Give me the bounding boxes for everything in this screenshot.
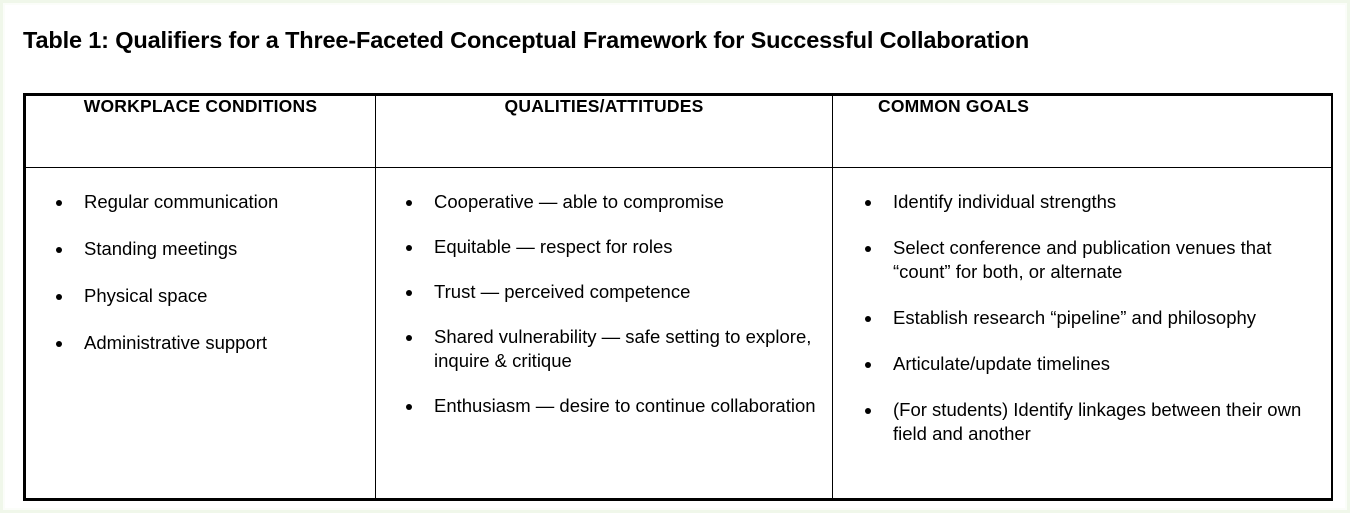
table-grid: WORKPLACE CONDITIONS QUALITIES/ATTITUDES… [25,95,1332,499]
list-item: Shared vulnerability — safe setting to e… [404,325,816,373]
list-item: Physical space [54,284,363,308]
bullet-icon [56,294,62,300]
table-header-row: WORKPLACE CONDITIONS QUALITIES/ATTITUDES… [26,96,1332,168]
bullet-list-qualities-attitudes: Cooperative — able to compromise Equitab… [404,190,816,418]
bullet-icon [56,200,62,206]
list-item-label: Select conference and publication venues… [893,236,1313,284]
page-canvas: Table 1: Qualifiers for a Three-Faceted … [0,0,1350,513]
list-item-label: Cooperative — able to compromise [434,190,816,214]
cell-common-goals: Identify individual strengths Select con… [833,168,1332,499]
cell-content-workplace-conditions: Regular communication Standing meetings … [26,168,375,394]
bullet-icon [865,246,871,252]
list-item-label: Articulate/update timelines [893,352,1313,376]
list-item-label: (For students) Identify linkages between… [893,398,1313,446]
list-item: Administrative support [54,331,363,355]
cell-content-common-goals: Identify individual strengths Select con… [833,168,1331,484]
table-header: WORKPLACE CONDITIONS QUALITIES/ATTITUDES… [26,96,1332,168]
list-item: Trust — perceived competence [404,280,816,304]
list-item-label: Establish research “pipeline” and philos… [893,306,1313,330]
list-item-label: Trust — perceived competence [434,280,816,304]
list-item: Regular communication [54,190,363,214]
list-item-label: Equitable — respect for roles [434,235,816,259]
bullet-icon [865,200,871,206]
cell-qualities-attitudes: Cooperative — able to compromise Equitab… [376,168,833,499]
page-inner-border: Table 1: Qualifiers for a Three-Faceted … [3,3,1347,510]
bullet-icon [406,245,412,251]
page-title: Table 1: Qualifiers for a Three-Faceted … [23,27,1029,54]
list-item: Enthusiasm — desire to continue collabor… [404,394,816,418]
list-item-label: Shared vulnerability — safe setting to e… [434,325,816,373]
list-item: Select conference and publication venues… [863,236,1313,284]
cell-content-qualities-attitudes: Cooperative — able to compromise Equitab… [376,168,832,455]
list-item: Articulate/update timelines [863,352,1313,376]
bullet-icon [406,290,412,296]
bullet-icon [865,316,871,322]
list-item-label: Physical space [84,284,363,308]
column-header-workplace-conditions: WORKPLACE CONDITIONS [26,96,376,168]
bullet-icon [865,408,871,414]
list-item-label: Regular communication [84,190,363,214]
list-item: (For students) Identify linkages between… [863,398,1313,446]
table-body: Regular communication Standing meetings … [26,168,1332,499]
bullet-icon [865,362,871,368]
list-item: Cooperative — able to compromise [404,190,816,214]
table-row: Regular communication Standing meetings … [26,168,1332,499]
list-item: Establish research “pipeline” and philos… [863,306,1313,330]
list-item: Equitable — respect for roles [404,235,816,259]
bullet-list-workplace-conditions: Regular communication Standing meetings … [54,190,363,355]
cell-workplace-conditions: Regular communication Standing meetings … [26,168,376,499]
bullet-icon [406,335,412,341]
column-header-common-goals: COMMON GOALS [833,96,1332,168]
bullet-icon [56,247,62,253]
list-item-label: Standing meetings [84,237,363,261]
bullet-icon [406,200,412,206]
list-item: Standing meetings [54,237,363,261]
bullet-list-common-goals: Identify individual strengths Select con… [863,190,1313,446]
framework-table: WORKPLACE CONDITIONS QUALITIES/ATTITUDES… [23,93,1333,501]
list-item-label: Enthusiasm — desire to continue collabor… [434,394,816,418]
list-item: Identify individual strengths [863,190,1313,214]
list-item-label: Identify individual strengths [893,190,1313,214]
list-item-label: Administrative support [84,331,363,355]
bullet-icon [406,404,412,410]
bullet-icon [56,341,62,347]
column-header-qualities-attitudes: QUALITIES/ATTITUDES [376,96,833,168]
